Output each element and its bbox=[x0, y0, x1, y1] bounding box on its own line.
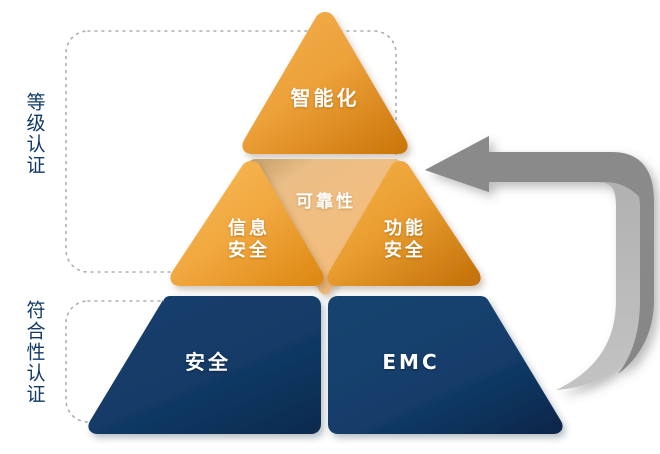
cell-label-emc: EMC bbox=[336, 350, 486, 374]
cell-label-safety: 安全 bbox=[148, 350, 268, 374]
side-label-compliance-certification: 符合性认证 bbox=[24, 300, 45, 405]
side-label-grade-certification: 等级认证 bbox=[24, 92, 45, 176]
cell-label-functional-safety: 功能 安全 bbox=[346, 218, 464, 262]
cell-label-info-security: 信息 安全 bbox=[190, 218, 308, 262]
cell-label-smart: 智能化 bbox=[258, 86, 392, 110]
cell-label-reliability: 可靠性 bbox=[262, 192, 390, 213]
